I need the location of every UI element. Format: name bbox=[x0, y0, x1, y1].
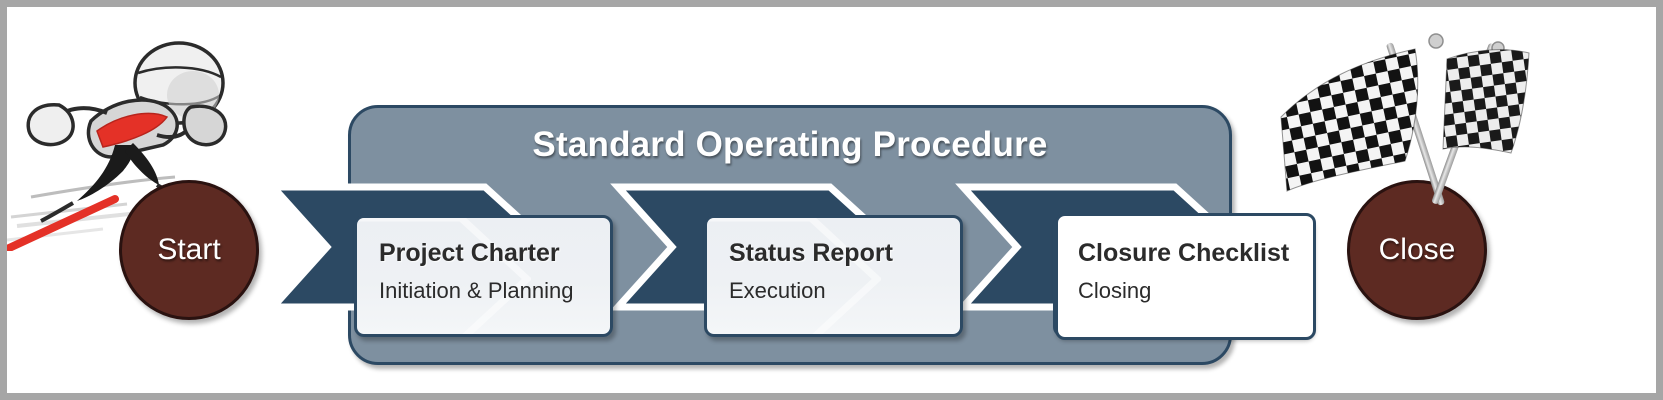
diagram-canvas: Standard Operating Procedure bbox=[0, 0, 1663, 400]
close-label: Close bbox=[1379, 233, 1456, 267]
step-title: Closure Checklist bbox=[1078, 240, 1309, 268]
step-card-text: Project Charter Initiation & Planning bbox=[357, 218, 610, 303]
checkered-flags-icon bbox=[1265, 21, 1533, 211]
diagram-stage: Standard Operating Procedure bbox=[7, 7, 1656, 393]
step-card-project-charter[interactable]: Project Charter Initiation & Planning bbox=[354, 215, 613, 337]
step-title: Project Charter bbox=[379, 240, 610, 268]
step-title: Status Report bbox=[729, 240, 960, 268]
step-card-text: Status Report Execution bbox=[707, 218, 960, 303]
step-subtitle: Closing bbox=[1078, 279, 1309, 303]
step-card-text: Closure Checklist Closing bbox=[1056, 218, 1309, 303]
step-card-status-report[interactable]: Status Report Execution bbox=[704, 215, 963, 337]
step-subtitle: Initiation & Planning bbox=[379, 279, 610, 303]
step-subtitle: Execution bbox=[729, 279, 960, 303]
page-title: Standard Operating Procedure bbox=[348, 125, 1232, 165]
start-label: Start bbox=[157, 233, 220, 267]
start-node[interactable]: Start bbox=[119, 180, 259, 320]
